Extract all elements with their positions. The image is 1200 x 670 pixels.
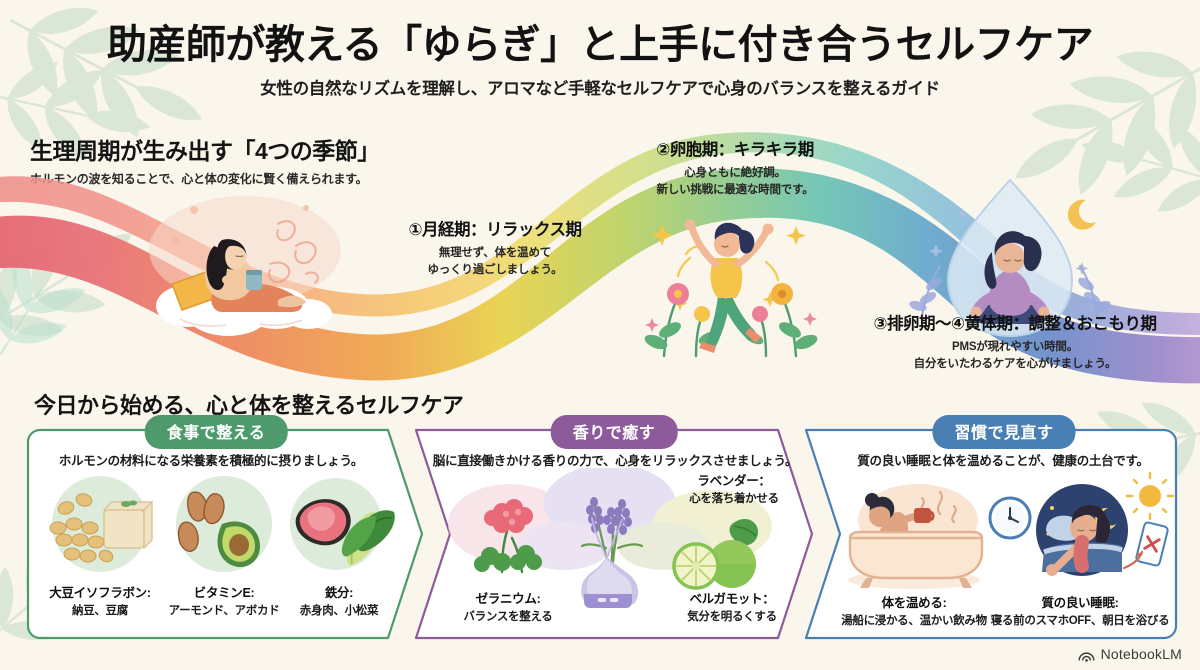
phase-1-heading: ①月経期：リラックス期	[360, 216, 630, 240]
selfcare-card-diet[interactable]: 食事で整える ホルモンの材料になる栄養素を積極的に摂りましょう。	[26, 428, 426, 640]
list-item-sub: 湯船に浸かる、温かい飲み物	[826, 612, 1002, 628]
list-item-sub: 納豆、豆腐	[40, 602, 160, 618]
card-habits-lead: 質の良い睡眠と体を温めることが、健康の土台です。	[804, 450, 1178, 469]
phase-2-line1: 心身ともに絶好調。	[590, 165, 880, 182]
card-aroma-lead: 脳に直接働きかける香りの力で、心身をリラックスさせましょう。	[414, 450, 816, 469]
list-item: ラベンダー： 心を落ち着かせる	[654, 470, 814, 506]
infographic-canvas: 助産師が教える「ゆらぎ」と上手に付き合うセルフケア 女性の自然なリズムを理解し、…	[0, 0, 1200, 670]
list-item-title: 体を温める:	[826, 592, 1002, 611]
sleeping-woman-icon	[982, 472, 1178, 592]
list-item-sub: 気分を明るくする	[652, 608, 812, 624]
list-item-title: ベルガモット：	[652, 588, 812, 607]
phase-2-label: ②卵胞期：キラキラ期 心身ともに絶好調。 新しい挑戦に最適な時間です。	[590, 136, 880, 198]
header: 助産師が教える「ゆらぎ」と上手に付き合うセルフケア 女性の自然なリズムを理解し、…	[0, 0, 1200, 99]
selfcare-section: 今日から始める、心と体を整えるセルフケア 食事で整える ホルモンの材料になる栄養…	[0, 388, 1200, 670]
card-aroma-items: ゼラニウム: バランスを整える ラベンダー： 心を落ち着かせる ベルガモット： …	[414, 472, 816, 640]
list-item: 鉄分: 赤身肉、小松菜	[280, 472, 398, 618]
list-item-sub: アーモンド、アボカド	[160, 602, 288, 618]
card-diet-items: 大豆イソフラボン: 納豆、豆腐	[26, 472, 426, 640]
list-item: 大豆イソフラボン: 納豆、豆腐	[40, 472, 160, 618]
phase-3-label: ③排卵期〜④黄体期：調整＆おこもり期 PMSが現れやすい時間。 自分をいたわるケ…	[830, 310, 1200, 372]
phase-2-line2: 新しい挑戦に最適な時間です。	[590, 182, 880, 199]
page-title: 助産師が教える「ゆらぎ」と上手に付き合うセルフケア	[0, 22, 1200, 68]
notebooklm-arc-icon	[1078, 647, 1095, 662]
card-diet-lead: ホルモンの材料になる栄養素を積極的に摂りましょう。	[26, 450, 396, 469]
almond-avocado-icon	[160, 472, 288, 582]
card-habits-items: 体を温める: 湯船に浸かる、温かい飲み物	[804, 472, 1178, 640]
selfcare-card-habits[interactable]: 習慣で見直す 質の良い睡眠と体を温めることが、健康の土台です。	[804, 428, 1178, 640]
list-item: 質の良い睡眠: 寝る前のスマホOFF、朝日を浴びる	[982, 472, 1178, 628]
soybeans-tofu-icon	[40, 472, 160, 582]
phase-1-line1: 無理せず、体を温めて	[360, 245, 630, 262]
list-item: 体を温める: 湯船に浸かる、温かい飲み物	[826, 472, 1002, 628]
selfcare-card-row: 食事で整える ホルモンの材料になる栄養素を積極的に摂りましょう。	[26, 428, 1178, 656]
list-item-title: 質の良い睡眠:	[982, 592, 1178, 611]
card-aroma-pill: 香りで癒す	[551, 415, 678, 449]
list-item-title: ゼラニウム:	[428, 588, 588, 607]
list-item-title: 鉄分:	[280, 582, 398, 601]
brand-name: NotebookLM	[1101, 646, 1182, 662]
card-habits-pill: 習慣で見直す	[932, 415, 1075, 449]
phase-3-line2: 自分をいたわるケアを心がけましょう。	[830, 356, 1200, 373]
phase-2-illustration	[620, 196, 840, 364]
phase-1-label: ①月経期：リラックス期 無理せず、体を温めて ゆっくり過ごしましょう。	[360, 216, 630, 278]
phase-3-line1: PMSが現れやすい時間。	[830, 339, 1200, 356]
card-diet-pill: 食事で整える	[145, 415, 288, 449]
list-item-title: 大豆イソフラボン:	[40, 582, 160, 601]
list-item: ゼラニウム: バランスを整える	[428, 588, 588, 624]
selfcare-card-aroma[interactable]: 香りで癒す 脳に直接働きかける香りの力で、心身をリラックスさせましょう。	[414, 428, 816, 640]
list-item-sub: 赤身肉、小松菜	[280, 602, 398, 618]
list-item-sub: 寝る前のスマホOFF、朝日を浴びる	[982, 612, 1178, 628]
bathtub-icon	[826, 472, 1002, 592]
list-item-sub: バランスを整える	[428, 608, 588, 624]
phase-2-heading: ②卵胞期：キラキラ期	[590, 136, 880, 160]
phase-3-heading: ③排卵期〜④黄体期：調整＆おこもり期	[830, 310, 1200, 334]
list-item-title: ビタミンE:	[160, 582, 288, 601]
list-item-sub: 心を落ち着かせる	[654, 490, 814, 506]
list-item: ベルガモット： 気分を明るくする	[652, 588, 812, 624]
page-subtitle: 女性の自然なリズムを理解し、アロマなど手軽なセルフケアで心身のバランスを整えるガ…	[0, 75, 1200, 99]
phase-1-illustration	[110, 188, 370, 338]
phase-1-line2: ゆっくり過ごしましょう。	[360, 262, 630, 279]
brand-footer: NotebookLM	[1078, 646, 1182, 662]
cycle-section: 生理周期が生み出す「4つの季節」 ホルモンの波を知ることで、心と体の変化に賢く備…	[0, 128, 1200, 386]
red-meat-greens-icon	[280, 472, 398, 582]
list-item-title: ラベンダー：	[654, 470, 814, 489]
list-item: ビタミンE: アーモンド、アボカド	[160, 472, 288, 618]
